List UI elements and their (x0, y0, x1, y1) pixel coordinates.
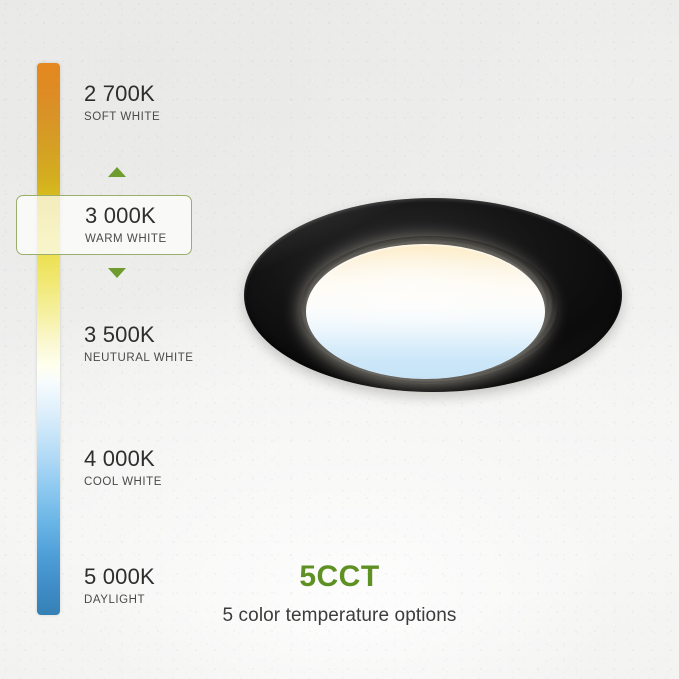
product-feature-image: 2 700K SOFT WHITE 3 500K NEUTURAL WHITE … (0, 0, 679, 679)
triangle-down-icon[interactable] (108, 268, 126, 278)
cct-stop-2700k: 2 700K SOFT WHITE (84, 83, 160, 124)
cct-stop-name: COOL WHITE (84, 477, 162, 489)
cct-stop-kelvin: 3 500K (84, 324, 194, 346)
cct-stop-name: NEUTURAL WHITE (84, 353, 194, 365)
cct-selected-card[interactable]: 3 000K WARM WHITE (16, 195, 192, 255)
caption-subtitle: 5 color temperature options (0, 605, 679, 627)
triangle-up-icon[interactable] (108, 167, 126, 177)
cct-gradient-bar (37, 63, 60, 615)
cct-stop-name: SOFT WHITE (84, 112, 160, 124)
cct-selected-card-text: 3 000K WARM WHITE (85, 205, 167, 246)
cct-stop-kelvin: 4 000K (84, 448, 162, 470)
cct-stop-kelvin: 2 700K (84, 83, 160, 105)
cct-gradient-fill (37, 63, 60, 615)
downlight-fixture (236, 192, 628, 398)
cct-stop-3500k: 3 500K NEUTURAL WHITE (84, 324, 194, 365)
cct-selected-name: WARM WHITE (85, 234, 167, 246)
cct-selected-kelvin: 3 000K (85, 205, 167, 227)
caption-title: 5CCT (0, 560, 679, 594)
fixture-lens-gloss (306, 244, 545, 379)
cct-stop-4000k: 4 000K COOL WHITE (84, 448, 162, 489)
